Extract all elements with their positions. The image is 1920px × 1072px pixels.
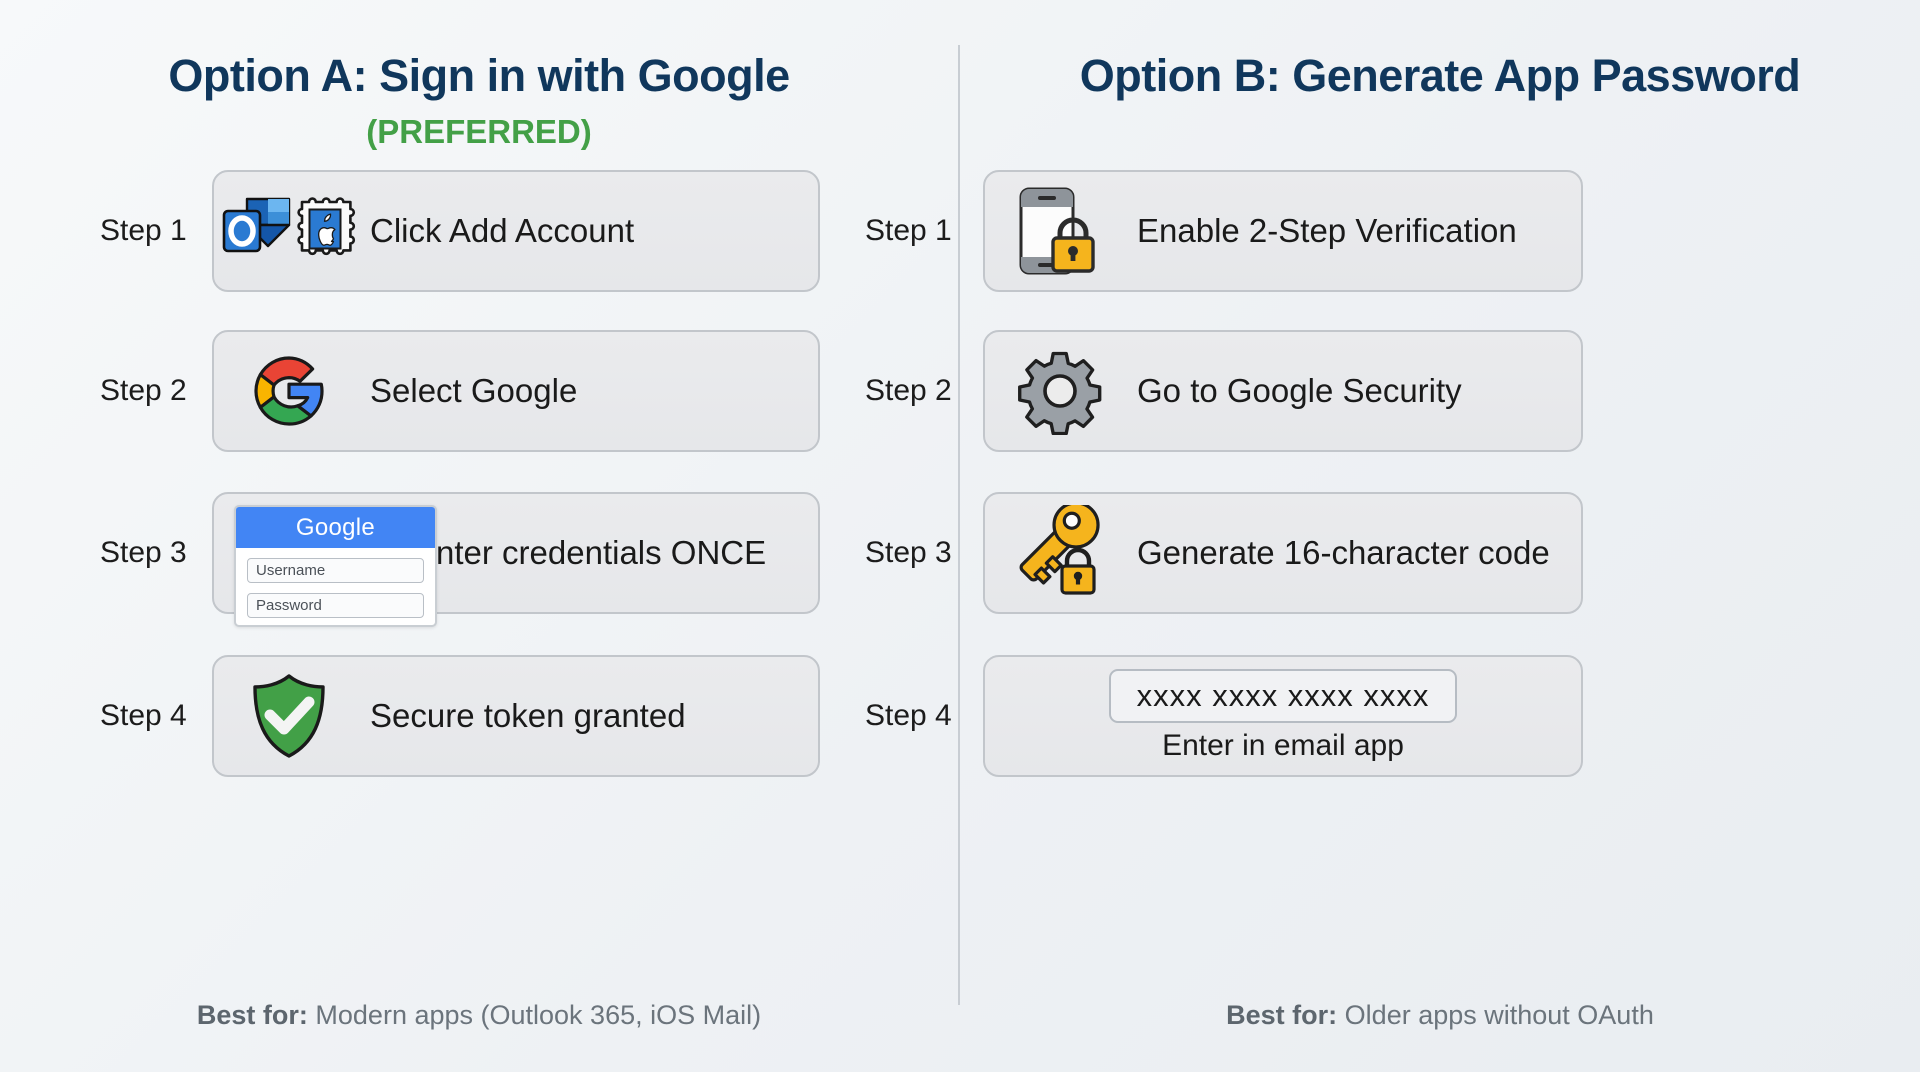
option-b-step-3-text: Generate 16-character code	[1137, 534, 1550, 572]
option-a-step-2-row[interactable]: Step 2 Select Google	[100, 330, 820, 452]
green-shield-check-icon	[214, 657, 364, 775]
option-a-step-3-box[interactable]: Google Username Password Enter credentia…	[212, 492, 820, 614]
option-a-step-4-text: Secure token granted	[370, 697, 686, 735]
option-b-step-1-box[interactable]: Enable 2-Step Verification	[983, 170, 1583, 292]
option-b-step-2-label: Step 2	[865, 374, 983, 408]
option-a-step-3-text: Enter credentials ONCE	[414, 534, 766, 572]
google-login-dialog-icon: Google Username Password	[214, 494, 364, 612]
option-b-step-2-box[interactable]: Go to Google Security	[983, 330, 1583, 452]
option-b-step-1-label: Step 1	[865, 214, 983, 248]
option-b-column: Option B: Generate App Password Step 1	[960, 0, 1920, 1072]
option-a-footer: Best for: Modern apps (Outlook 365, iOS …	[0, 1000, 958, 1031]
phone-with-lock-icon	[985, 172, 1135, 290]
gear-icon	[985, 332, 1135, 450]
option-a-title: Option A: Sign in with Google	[0, 50, 958, 102]
option-a-step-1-text: Click Add Account	[370, 212, 634, 250]
infographic-canvas: Option A: Sign in with Google (PREFERRED…	[0, 0, 1920, 1072]
option-b-footer: Best for: Older apps without OAuth	[960, 1000, 1920, 1031]
google-g-logo-icon	[214, 332, 364, 450]
option-a-step-1-row[interactable]: Step 1	[100, 170, 820, 292]
option-a-step-2-text: Select Google	[370, 372, 577, 410]
option-a-step-2-label: Step 2	[100, 374, 212, 408]
outlook-and-apple-mail-icons	[214, 172, 364, 290]
option-a-step-1-label: Step 1	[100, 214, 212, 248]
option-a-step-1-box[interactable]: Click Add Account	[212, 170, 820, 292]
option-b-step-2-row[interactable]: Step 2 Go to Google Security	[865, 330, 1583, 452]
option-b-step-2-text: Go to Google Security	[1137, 372, 1462, 410]
option-b-step-4-box[interactable]: xxxx xxxx xxxx xxxx Enter in email app	[983, 655, 1583, 777]
option-a-step-3-row[interactable]: Step 3 Google Username Password Enter cr…	[100, 492, 820, 614]
option-b-step-3-label: Step 3	[865, 536, 983, 570]
option-a-footer-text: Modern apps (Outlook 365, iOS Mail)	[308, 1000, 761, 1030]
option-a-step-4-row[interactable]: Step 4 Secure token granted	[100, 655, 820, 777]
app-password-code-icon: xxxx xxxx xxxx xxxx Enter in email app	[985, 669, 1581, 763]
option-b-step-3-row[interactable]: Step 3	[865, 492, 1583, 614]
option-b-step-1-row[interactable]: Step 1 Enable 2-Step Verific	[865, 170, 1583, 292]
option-b-step-4-label: Step 4	[865, 699, 983, 733]
key-with-lock-icon	[985, 494, 1135, 612]
app-password-code: xxxx xxxx xxxx xxxx	[1109, 669, 1458, 723]
option-a-step-4-label: Step 4	[100, 699, 212, 733]
option-b-step-1-text: Enable 2-Step Verification	[1137, 212, 1517, 250]
option-a-column: Option A: Sign in with Google (PREFERRED…	[0, 0, 958, 1072]
option-b-step-3-box[interactable]: Generate 16-character code	[983, 492, 1583, 614]
option-a-step-3-label: Step 3	[100, 536, 212, 570]
option-b-step-4-row[interactable]: Step 4 xxxx xxxx xxxx xxxx Enter in emai…	[865, 655, 1583, 777]
google-login-card: Google Username Password	[234, 505, 437, 627]
google-login-header: Google	[236, 507, 435, 548]
option-a-footer-prefix: Best for:	[197, 1000, 308, 1030]
option-b-title: Option B: Generate App Password	[960, 50, 1920, 102]
option-a-step-2-box[interactable]: Select Google	[212, 330, 820, 452]
app-password-caption: Enter in email app	[1162, 729, 1404, 763]
option-b-footer-prefix: Best for:	[1226, 1000, 1337, 1030]
option-a-subtitle: (PREFERRED)	[0, 113, 958, 151]
username-field[interactable]: Username	[247, 558, 424, 583]
password-field[interactable]: Password	[247, 593, 424, 618]
option-b-footer-text: Older apps without OAuth	[1337, 1000, 1654, 1030]
option-a-step-4-box[interactable]: Secure token granted	[212, 655, 820, 777]
